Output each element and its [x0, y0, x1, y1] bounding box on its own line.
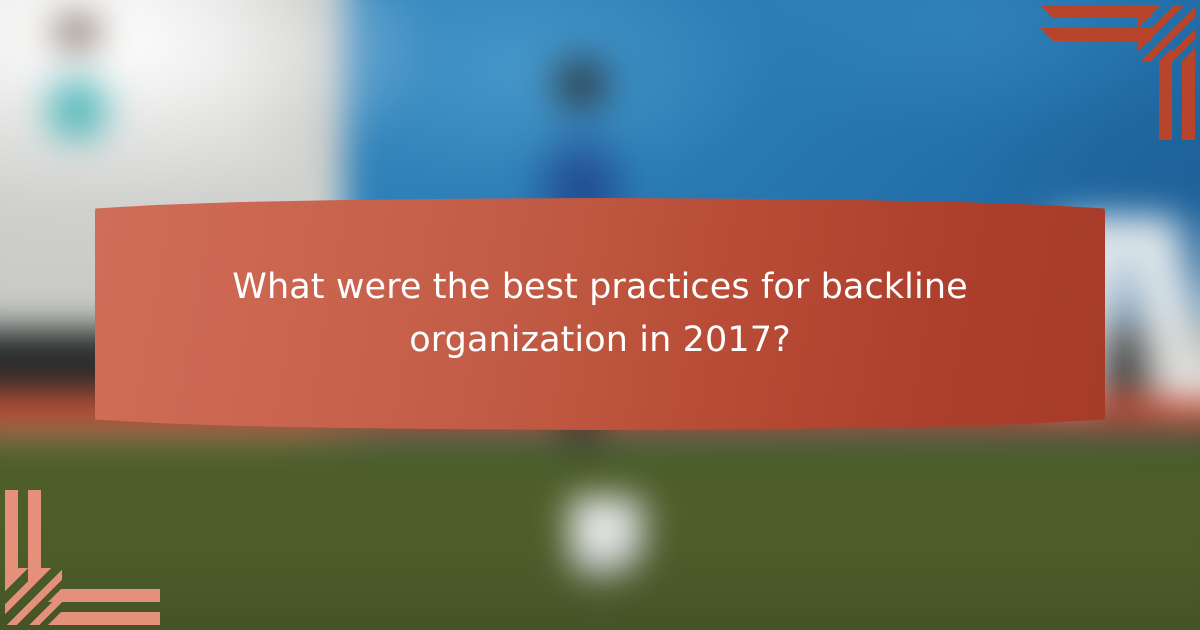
diagonal-hatch-icon [5, 568, 62, 625]
spectator-teal-shirt [29, 10, 125, 145]
ornament-bar-vertical [1182, 48, 1195, 140]
ornament-bar-horizontal [1040, 5, 1152, 18]
ornament-bar-horizontal [1040, 28, 1152, 41]
football-icon [569, 496, 646, 578]
headline-line-1: What were the best practices for backlin… [232, 267, 968, 307]
ornament-bar-vertical [5, 490, 18, 582]
ornament-bar-vertical [28, 490, 41, 582]
ornament-bar-horizontal [48, 589, 160, 602]
corner-ornament-bottom-left [0, 480, 160, 630]
headline-banner: What were the best practices for backlin… [95, 198, 1105, 430]
page-title: What were the best practices for backlin… [166, 261, 1035, 367]
corner-ornament-top-right [1040, 0, 1200, 150]
ornament-bar-vertical [1159, 48, 1172, 140]
headline-line-2: organization in 2017? [409, 320, 791, 360]
ornament-bar-horizontal [48, 612, 160, 625]
social-share-card: What were the best practices for backlin… [0, 0, 1200, 630]
